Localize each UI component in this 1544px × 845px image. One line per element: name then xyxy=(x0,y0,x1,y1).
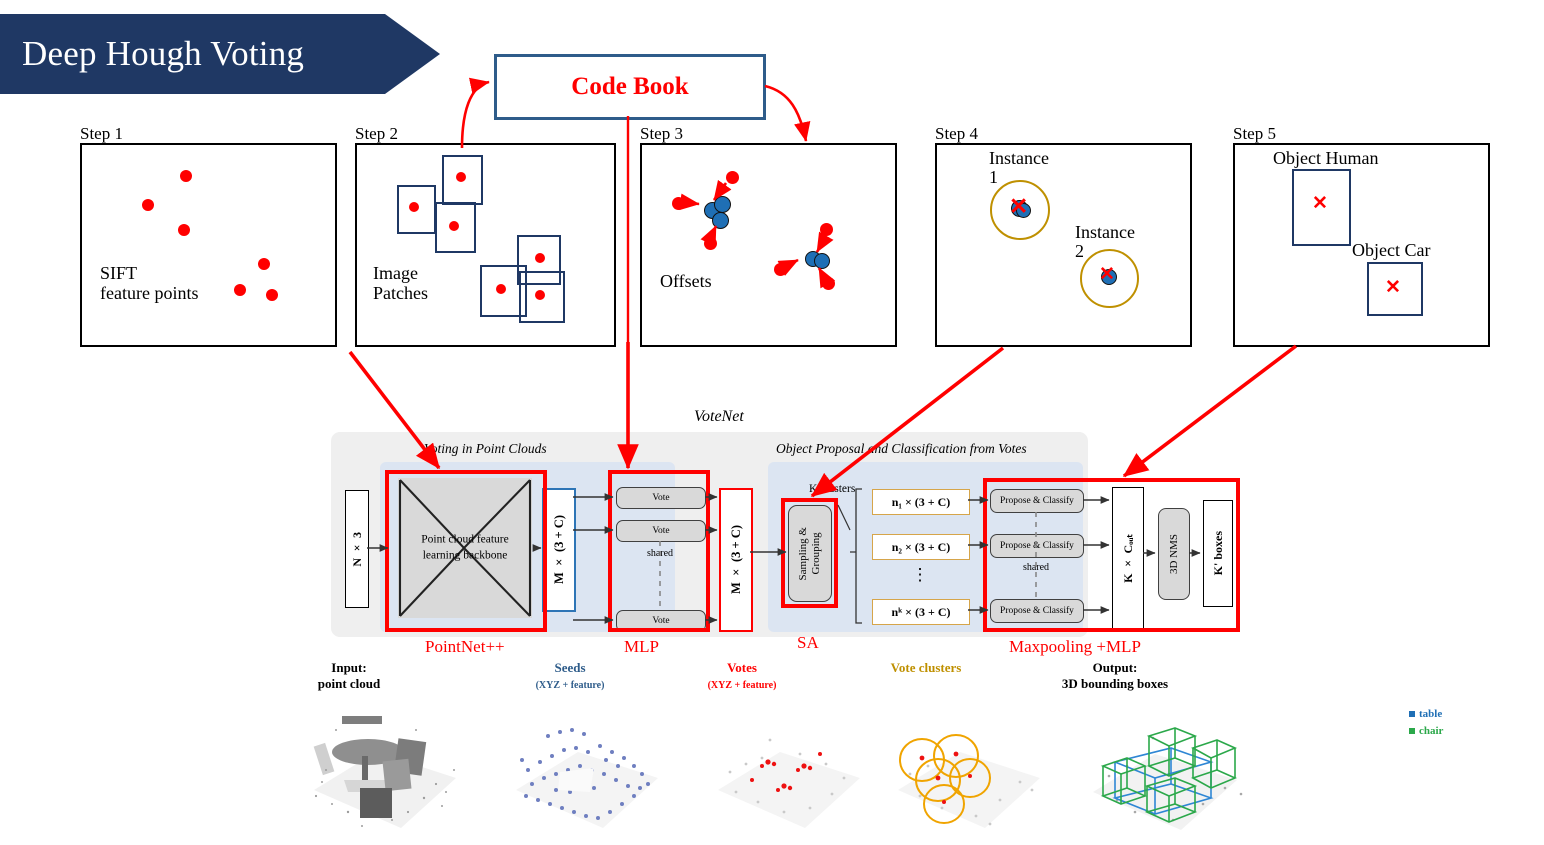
annotation-sa: SA xyxy=(797,633,819,653)
shared-label-votes: shared xyxy=(616,548,704,559)
backbone-label: Point cloud featurelearning backbone xyxy=(392,532,538,563)
step-2-label-text: Step 2 xyxy=(355,124,398,144)
propose-classify-label: Propose & Classify xyxy=(1000,496,1074,506)
pointcloud-input-image xyxy=(296,700,471,840)
object-human-center: ✕ xyxy=(1312,192,1328,215)
vote-point xyxy=(672,197,685,210)
input-nx3-box: N × 3 xyxy=(345,490,369,608)
propose-classify-label: Propose & Classify xyxy=(1000,541,1074,551)
object-car-label: Object Car xyxy=(1352,240,1430,260)
arrow-codebook-to-step3 xyxy=(765,86,806,141)
seeds-box-label: M × (3 + C) xyxy=(552,515,567,584)
cluster-box-2: n₂ × (3 + C) xyxy=(872,534,970,560)
input-nx3-label: N × 3 xyxy=(350,532,365,567)
object-human-label: Object Human xyxy=(1273,148,1378,168)
sift-point xyxy=(142,199,154,211)
nms-label: 3D NMS xyxy=(1168,534,1180,574)
votes-box-label: M × (3 + C) xyxy=(729,525,744,594)
object-car-center: ✕ xyxy=(1385,276,1401,299)
legend-swatch-table xyxy=(1409,711,1415,717)
kprime-boxes-label: K' boxes xyxy=(1211,531,1226,575)
sift-point xyxy=(180,170,192,182)
seed-point xyxy=(714,196,731,213)
step-1-label-text: Step 1 xyxy=(80,124,123,144)
bottom-label-seeds: Seeds(XYZ + feature) xyxy=(520,660,620,693)
legend-swatch-chair xyxy=(1409,728,1415,734)
sift-point xyxy=(178,224,190,236)
output-legend: table chair xyxy=(1409,706,1443,739)
vote-point xyxy=(704,237,717,250)
arrow-step5-to-maxpool xyxy=(1124,346,1296,476)
vote-box-1: Vote xyxy=(616,487,706,509)
sift-point xyxy=(234,284,246,296)
propose-classify-box-k: Propose & Classify xyxy=(990,599,1084,623)
step-3-caption: Offsets xyxy=(660,271,712,291)
title-banner: Deep Hough Voting xyxy=(0,14,440,94)
bottom-label-input: Input:point cloud xyxy=(296,660,402,693)
voting-section-title: Voting in Point Clouds xyxy=(424,441,547,457)
step-2-caption: ImagePatches xyxy=(373,263,428,303)
k-cout-label: K × Cₒᵤₜ xyxy=(1121,534,1136,583)
annotation-mlp: MLP xyxy=(624,637,659,657)
step-3-panel: Offsets xyxy=(640,143,897,347)
arrow-step2-to-codebook xyxy=(462,82,489,148)
nms-box: 3D NMS xyxy=(1158,508,1190,600)
instance-center-marker: ✕ xyxy=(1099,263,1115,286)
seed-point xyxy=(814,253,830,269)
cluster-1-label: n₁ × (3 + C) xyxy=(892,495,951,510)
cluster-k-label: nᵏ × (3 + C) xyxy=(891,605,950,620)
bottom-label-vote-clusters: Vote clusters xyxy=(866,660,986,676)
pointcloud-output-image xyxy=(1075,700,1265,840)
step-5-panel: Object Human ✕ Object Car ✕ xyxy=(1233,143,1490,347)
cluster-box-k: nᵏ × (3 + C) xyxy=(872,599,970,625)
patch-point xyxy=(535,290,545,300)
cluster-box-1: n₁ × (3 + C) xyxy=(872,489,970,515)
step-4-panel: Instance1 ✕ Instance2 ✕ xyxy=(935,143,1192,347)
code-book-label: Code Book xyxy=(571,73,688,101)
sift-point xyxy=(258,258,270,270)
patch-point xyxy=(496,284,506,294)
step-3-label-text: Step 3 xyxy=(640,124,683,144)
vote-box-2: Vote xyxy=(616,520,706,542)
cluster-2-label: n₂ × (3 + C) xyxy=(892,540,951,555)
step-2-panel: ImagePatches xyxy=(355,143,616,347)
sift-point xyxy=(266,289,278,301)
patch-point xyxy=(535,253,545,263)
pointcloud-clusters-image xyxy=(880,700,1055,840)
votes-box: M × (3 + C) xyxy=(719,488,753,632)
sampling-grouping-label: Sampling &Grouping xyxy=(797,527,823,580)
vote-point xyxy=(726,171,739,184)
backbone-block: Point cloud featurelearning backbone xyxy=(392,474,538,622)
vote-label: Vote xyxy=(652,616,669,626)
propose-classify-box-2: Propose & Classify xyxy=(990,534,1084,558)
shared-label-propose: shared xyxy=(990,562,1082,573)
vote-point xyxy=(822,277,835,290)
page-title: Deep Hough Voting xyxy=(22,34,304,74)
legend-item-table: table xyxy=(1409,706,1443,723)
code-book-box: Code Book xyxy=(494,54,766,120)
k-cout-box: K × Cₒᵤₜ xyxy=(1112,487,1144,629)
pointcloud-seeds-image xyxy=(498,700,673,840)
annotation-maxpool-mlp: Maxpooling +MLP xyxy=(1009,637,1141,657)
seeds-box: M × (3 + C) xyxy=(542,488,576,612)
vote-point xyxy=(774,263,787,276)
legend-item-chair: chair xyxy=(1409,723,1443,740)
pointcloud-votes-image xyxy=(700,700,875,840)
proposal-section-title: Object Proposal and Classification from … xyxy=(776,441,1027,457)
annotation-pointnet: PointNet++ xyxy=(425,637,505,657)
step-5-label-text: Step 5 xyxy=(1233,124,1276,144)
vote-point xyxy=(820,223,833,236)
step-4-label-text: Step 4 xyxy=(935,124,978,144)
propose-classify-box-1: Propose & Classify xyxy=(990,489,1084,513)
patch-point xyxy=(456,172,466,182)
seed-point xyxy=(712,212,729,229)
kprime-boxes-box: K' boxes xyxy=(1203,500,1233,607)
instance-center-marker: ✕ xyxy=(1009,193,1028,220)
patch-point xyxy=(409,202,419,212)
vote-label: Vote xyxy=(652,493,669,503)
vote-box-k: Vote xyxy=(616,610,706,632)
votenet-title: VoteNet xyxy=(694,408,744,426)
step-1-caption: SIFTfeature points xyxy=(100,263,198,303)
bottom-label-output: Output:3D bounding boxes xyxy=(1030,660,1200,693)
bottom-label-votes: Votes(XYZ + feature) xyxy=(692,660,792,693)
sampling-grouping-box: Sampling &Grouping xyxy=(788,505,832,602)
patch-point xyxy=(449,221,459,231)
k-clusters-label: K clusters xyxy=(809,483,855,495)
propose-classify-label: Propose & Classify xyxy=(1000,606,1074,616)
vote-label: Vote xyxy=(652,526,669,536)
cluster-ellipsis: ⋮ xyxy=(872,566,968,583)
step-1-panel: SIFTfeature points xyxy=(80,143,337,347)
